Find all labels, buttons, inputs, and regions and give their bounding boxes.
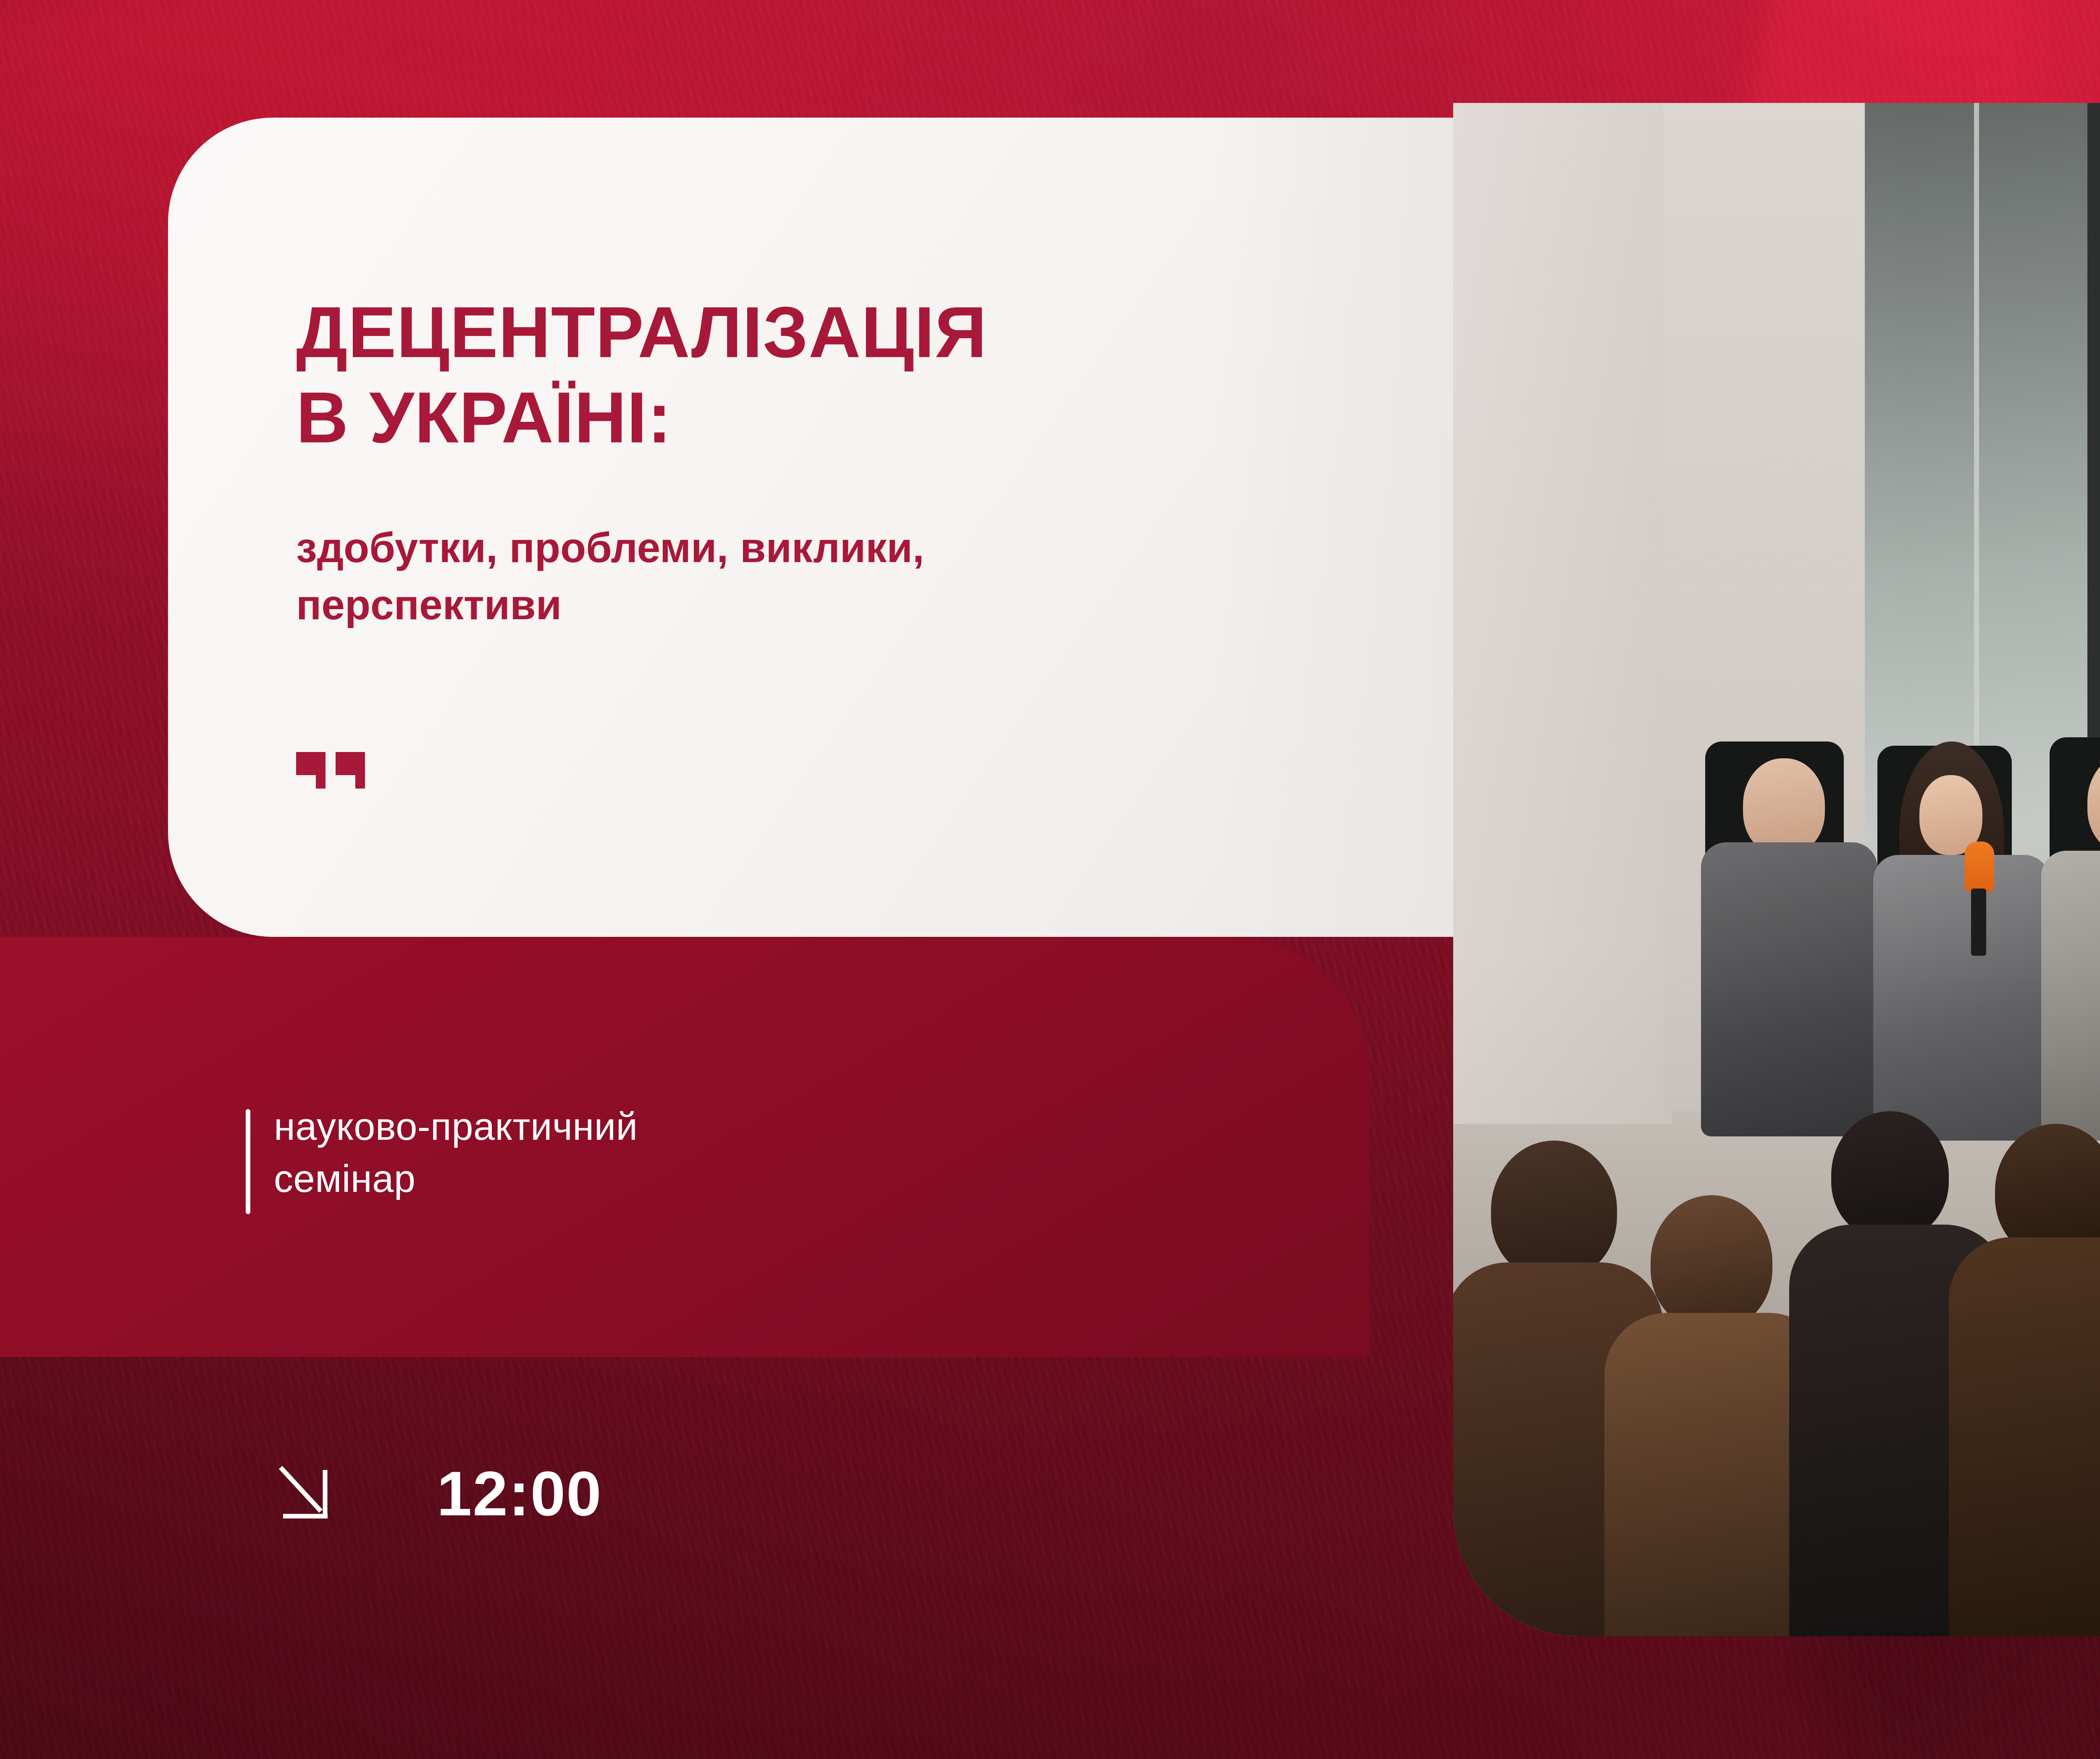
photo-audience-head: [1831, 1111, 1949, 1239]
event-type-label: науково-практичний семінар: [274, 1101, 638, 1205]
photo-audience-body: [1949, 1237, 2100, 1636]
red-panel-lower-left: [0, 937, 1369, 1357]
event-photo: Тисменицька громада в роки повномасштабн…: [1453, 103, 2100, 1636]
photo-panelist-head: [1743, 758, 1825, 855]
vertical-rule-divider: [246, 1109, 250, 1214]
photo-panelist-body: [1701, 842, 1877, 1136]
photo-audience-head: [1491, 1141, 1617, 1279]
photo-audience-head: [1651, 1195, 1772, 1330]
photo-panelist-body: [1873, 855, 2050, 1141]
event-type-block: науково-практичний семінар: [246, 1101, 638, 1214]
page-subtitle: здобутки, проблеми, виклики, перспективи: [296, 460, 1304, 634]
photo-microphone-handle: [1971, 889, 1986, 956]
title-block: ДЕЦЕНТРАЛІЗАЦІЯ В УКРАЇНІ: здобутки, про…: [296, 290, 1304, 634]
photo-microphone-head: [1965, 841, 1994, 892]
quote-mark-icon: [296, 752, 367, 786]
poster-canvas: ДЕЦЕНТРАЛІЗАЦІЯ В УКРАЇНІ: здобутки, про…: [0, 0, 2100, 1759]
page-title: ДЕЦЕНТРАЛІЗАЦІЯ В УКРАЇНІ:: [296, 290, 1304, 460]
event-time: 12:00: [437, 1462, 602, 1525]
photo-panelist-body: [2041, 851, 2100, 1141]
arrow-down-right-icon: [277, 1464, 332, 1523]
event-time-block: 12:00: [277, 1462, 602, 1525]
